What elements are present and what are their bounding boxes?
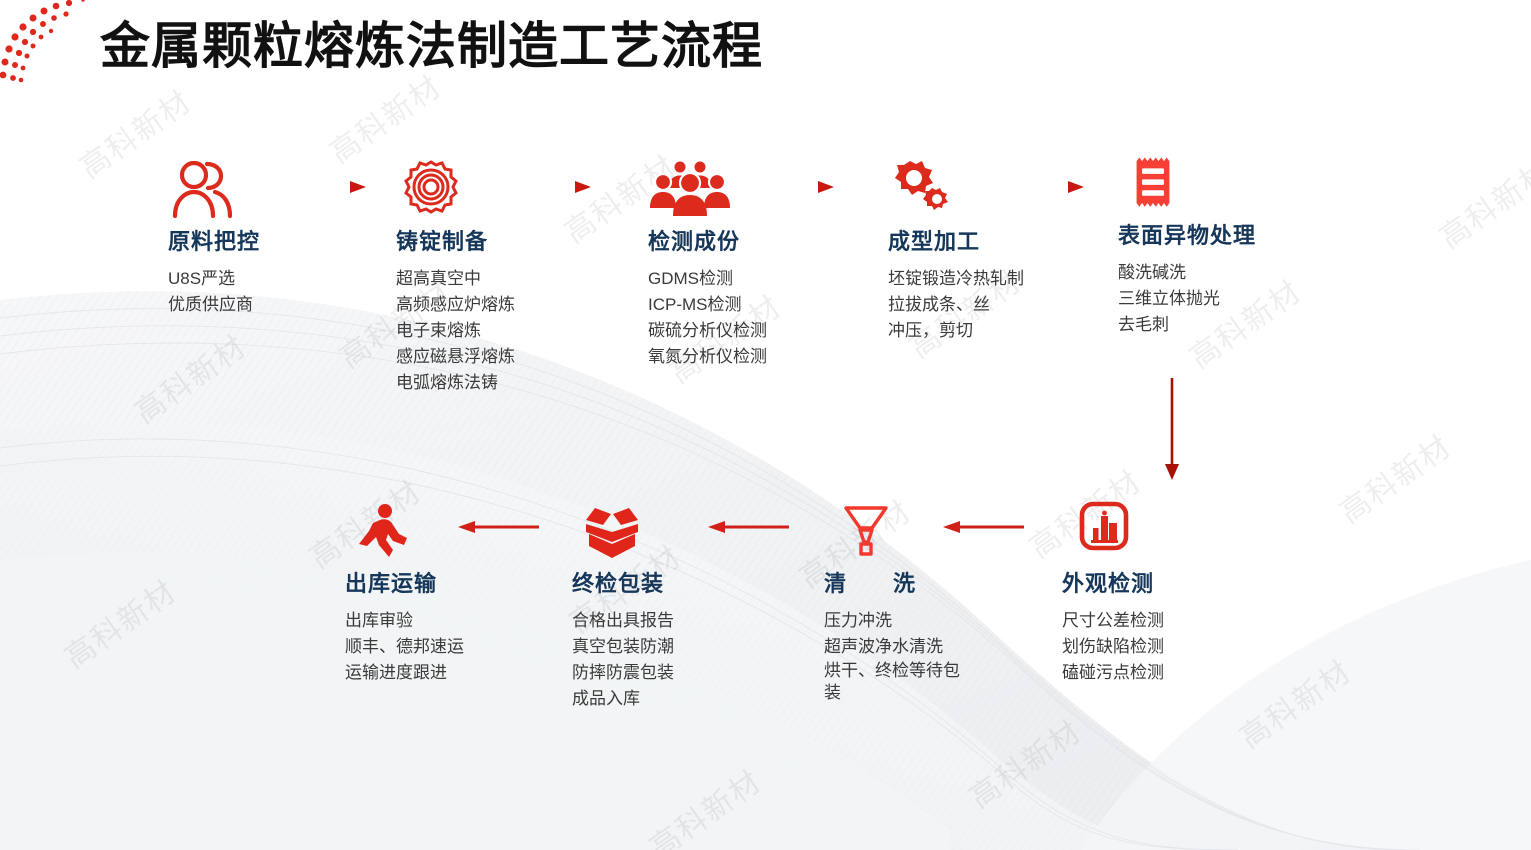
page-title: 金属颗粒熔炼法制造工艺流程 bbox=[100, 6, 763, 78]
step-detail-line: 烘干、终检等待包装 bbox=[824, 660, 974, 704]
receipt-icon bbox=[1118, 152, 1188, 214]
watermark: 高科新材 bbox=[639, 757, 769, 850]
step-detail-line: 真空包装防潮 bbox=[572, 634, 674, 660]
funnel-icon bbox=[824, 500, 894, 562]
step-ingot-preparation[interactable]: 铸锭制备 超高真空中 高频感应炉熔炼 电子束熔炼 感应磁悬浮熔炼 电弧熔炼法铸 bbox=[396, 158, 515, 396]
step-detail-list: 尺寸公差检测 划伤缺陷检测 磕碰污点检测 bbox=[1062, 608, 1164, 686]
step-final-inspection-packaging[interactable]: 终检包装 合格出具报告 真空包装防潮 防摔防震包装 成品入库 bbox=[572, 500, 674, 712]
step-detail-line: 超高真空中 bbox=[396, 266, 515, 292]
title-bar: 金属颗粒熔炼法制造工艺流程 bbox=[0, 0, 1531, 100]
step-detail-line: 超声波净水清洗 bbox=[824, 634, 974, 660]
step-detail-line: 运输进度跟进 bbox=[345, 660, 464, 686]
step-detail-line: GDMS检测 bbox=[648, 266, 767, 292]
step-detail-line: 成品入库 bbox=[572, 686, 674, 712]
step-detail-line: 三维立体抛光 bbox=[1118, 286, 1256, 312]
two-gears-icon bbox=[888, 158, 958, 220]
factory-badge-icon bbox=[1062, 500, 1132, 562]
step-raw-material-control[interactable]: 原料把控 U8S严选 优质供应商 bbox=[168, 158, 260, 318]
two-people-outline-icon bbox=[168, 158, 238, 220]
step-title: 清 洗 bbox=[824, 566, 974, 598]
step-forming-processing[interactable]: 成型加工 坯锭锻造冷热轧制 拉拔成条、丝 冲压，剪切 bbox=[888, 158, 1024, 344]
step-detail-line: 拉拔成条、丝 bbox=[888, 292, 1024, 318]
step-detail-list: 压力冲洗 超声波净水清洗 烘干、终检等待包装 bbox=[824, 608, 974, 704]
step-detail-line: 冲压，剪切 bbox=[888, 318, 1024, 344]
step-detail-line: 优质供应商 bbox=[168, 292, 260, 318]
red-dot-arc bbox=[0, 0, 97, 94]
step-detail-list: U8S严选 优质供应商 bbox=[168, 266, 260, 318]
step-detail-line: U8S严选 bbox=[168, 266, 260, 292]
step-outbound-transport[interactable]: 出库运输 出库审验 顺丰、德邦速运 运输进度跟进 bbox=[345, 500, 464, 686]
step-detail-line: 坯锭锻造冷热轧制 bbox=[888, 266, 1024, 292]
arrow-2-to-3 bbox=[515, 180, 595, 194]
watermark: 高科新材 bbox=[1229, 647, 1359, 756]
step-detail-list: 酸洗碱洗 三维立体抛光 去毛刺 bbox=[1118, 260, 1256, 338]
step-detail-line: 顺丰、德邦速运 bbox=[345, 634, 464, 660]
step-detail-list: GDMS检测 ICP-MS检测 碳硫分析仪检测 氧氮分析仪检测 bbox=[648, 266, 767, 370]
arrow-5-to-6 bbox=[1164, 378, 1180, 483]
step-detail-line: 氧氮分析仪检测 bbox=[648, 344, 767, 370]
watermark: 高科新材 bbox=[124, 322, 254, 431]
step-composition-testing[interactable]: 检测成份 GDMS检测 ICP-MS检测 碳硫分析仪检测 氧氮分析仪检测 bbox=[648, 158, 767, 370]
step-detail-list: 合格出具报告 真空包装防潮 防摔防震包装 成品入库 bbox=[572, 608, 674, 712]
people-group-icon bbox=[648, 158, 732, 220]
step-title: 外观检测 bbox=[1062, 566, 1164, 598]
arrow-7-to-8 bbox=[705, 520, 789, 534]
watermark: 高科新材 bbox=[1329, 422, 1459, 531]
step-detail-line: 感应磁悬浮熔炼 bbox=[396, 344, 515, 370]
step-detail-line: 合格出具报告 bbox=[572, 608, 674, 634]
step-title: 原料把控 bbox=[168, 224, 260, 256]
walking-person-icon bbox=[345, 500, 415, 562]
step-title: 出库运输 bbox=[345, 566, 464, 598]
step-detail-line: 电弧熔炼法铸 bbox=[396, 370, 515, 396]
step-cleaning[interactable]: 清 洗 压力冲洗 超声波净水清洗 烘干、终检等待包装 bbox=[824, 500, 974, 704]
open-box-icon bbox=[572, 500, 652, 562]
step-detail-line: 电子束熔炼 bbox=[396, 318, 515, 344]
watermark: 高科新材 bbox=[1429, 147, 1531, 256]
watermark: 高科新材 bbox=[959, 707, 1089, 816]
step-detail-line: 磕碰污点检测 bbox=[1062, 660, 1164, 686]
step-detail-line: 压力冲洗 bbox=[824, 608, 974, 634]
step-title: 铸锭制备 bbox=[396, 224, 515, 256]
step-title: 检测成份 bbox=[648, 224, 767, 256]
gear-rings-icon bbox=[396, 158, 466, 220]
step-detail-line: 碳硫分析仪检测 bbox=[648, 318, 767, 344]
step-detail-list: 坯锭锻造冷热轧制 拉拔成条、丝 冲压，剪切 bbox=[888, 266, 1024, 344]
step-detail-line: 划伤缺陷检测 bbox=[1062, 634, 1164, 660]
step-detail-line: 去毛刺 bbox=[1118, 312, 1256, 338]
watermark: 高科新材 bbox=[54, 567, 184, 676]
step-detail-line: 酸洗碱洗 bbox=[1118, 260, 1256, 286]
step-appearance-inspection[interactable]: 外观检测 尺寸公差检测 划伤缺陷检测 磕碰污点检测 bbox=[1062, 500, 1164, 686]
step-title: 成型加工 bbox=[888, 224, 1024, 256]
arrow-8-to-9 bbox=[455, 520, 539, 534]
step-detail-list: 超高真空中 高频感应炉熔炼 电子束熔炼 感应磁悬浮熔炼 电弧熔炼法铸 bbox=[396, 266, 515, 396]
step-title: 终检包装 bbox=[572, 566, 674, 598]
step-surface-treatment[interactable]: 表面异物处理 酸洗碱洗 三维立体抛光 去毛刺 bbox=[1118, 152, 1256, 338]
background-decoration: 高科新材 高科新材 高科新材 高科新材 高科新材 高科新材 高科新材 高科新材 … bbox=[0, 0, 1531, 850]
step-detail-line: 出库审验 bbox=[345, 608, 464, 634]
step-title: 表面异物处理 bbox=[1118, 218, 1256, 250]
arrow-1-to-2 bbox=[290, 180, 370, 194]
arrow-3-to-4 bbox=[758, 180, 838, 194]
step-detail-line: 尺寸公差检测 bbox=[1062, 608, 1164, 634]
step-detail-line: ICP-MS检测 bbox=[648, 292, 767, 318]
step-detail-line: 高频感应炉熔炼 bbox=[396, 292, 515, 318]
step-detail-list: 出库审验 顺丰、德邦速运 运输进度跟进 bbox=[345, 608, 464, 686]
background-swoosh bbox=[0, 0, 1531, 850]
step-detail-line: 防摔防震包装 bbox=[572, 660, 674, 686]
slide-canvas: 高科新材 高科新材 高科新材 高科新材 高科新材 高科新材 高科新材 高科新材 … bbox=[0, 0, 1531, 850]
